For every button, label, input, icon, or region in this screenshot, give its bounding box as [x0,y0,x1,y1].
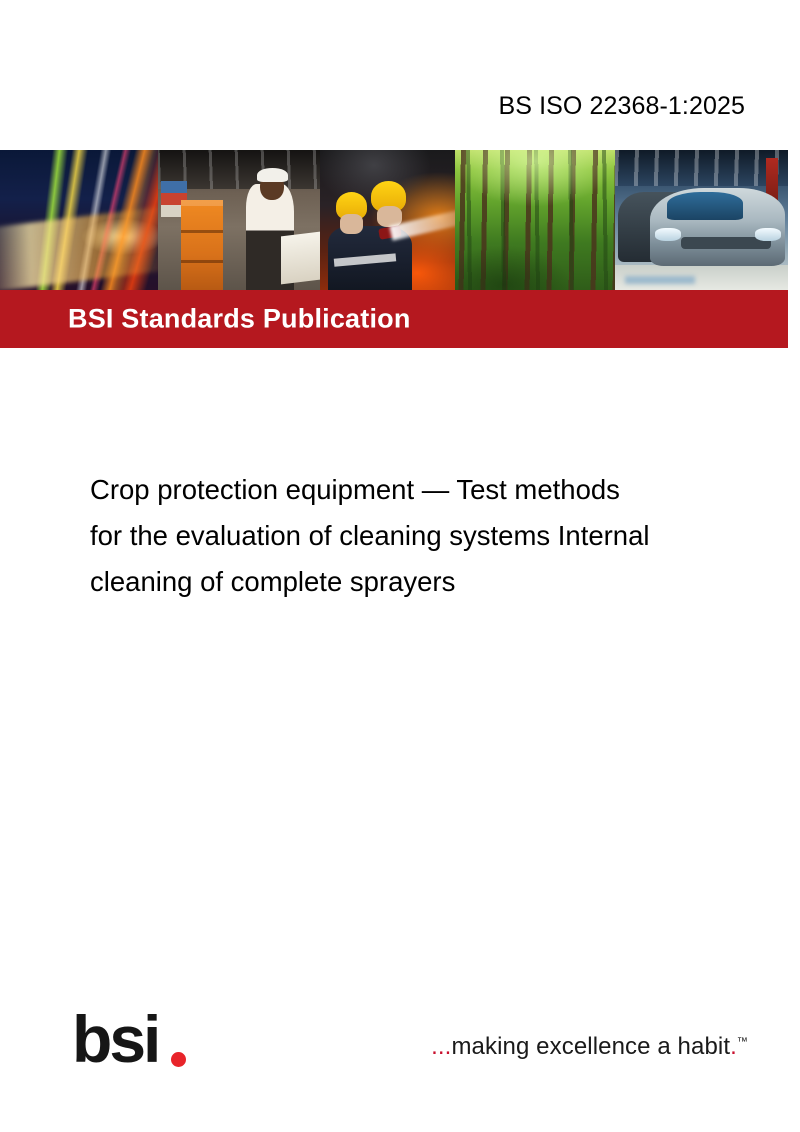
bsi-logo-dot [171,1052,186,1067]
tagline-ellipsis: ... [431,1033,451,1060]
photo-panel-forest [455,150,615,290]
photo-strip [0,150,788,290]
firefighter-face-left [340,214,363,234]
bsi-standards-publication-banner: BSI Standards Publication [0,290,788,348]
photo-panel-warehouse-worker [158,150,320,290]
title-line-1: Crop protection equipment — Test methods [90,467,780,513]
bsi-tagline: ...making excellence a habit.™ [431,1033,748,1061]
photo-panel-firefighters [320,150,455,290]
tagline-period: . [730,1033,737,1060]
tagline-text: making excellence a habit [451,1033,730,1060]
bsi-logo-wordmark: bsi [72,1006,158,1072]
bsi-logo: bsi [72,1008,192,1072]
factory-floor [615,265,788,290]
banner-label: BSI Standards Publication [68,304,411,335]
photo-panel-night-traffic-light-trails [0,150,158,290]
worker-cap [257,168,288,182]
page-title: Crop protection equipment — Test methods… [90,467,780,605]
title-line-2: for the evaluation of cleaning systems I… [90,513,780,559]
warehouse-box [281,232,320,284]
standard-number: BS ISO 22368-1:2025 [498,92,745,121]
car-headlight-right [755,228,781,241]
car-windshield [667,192,743,220]
photo-panel-car-manufacturing [615,150,788,290]
title-line-3: cleaning of complete sprayers [90,559,780,605]
trademark-icon: ™ [737,1036,748,1048]
factory-roof [615,150,788,186]
warehouse-crate [181,200,223,290]
car-headlight-left [655,228,681,241]
